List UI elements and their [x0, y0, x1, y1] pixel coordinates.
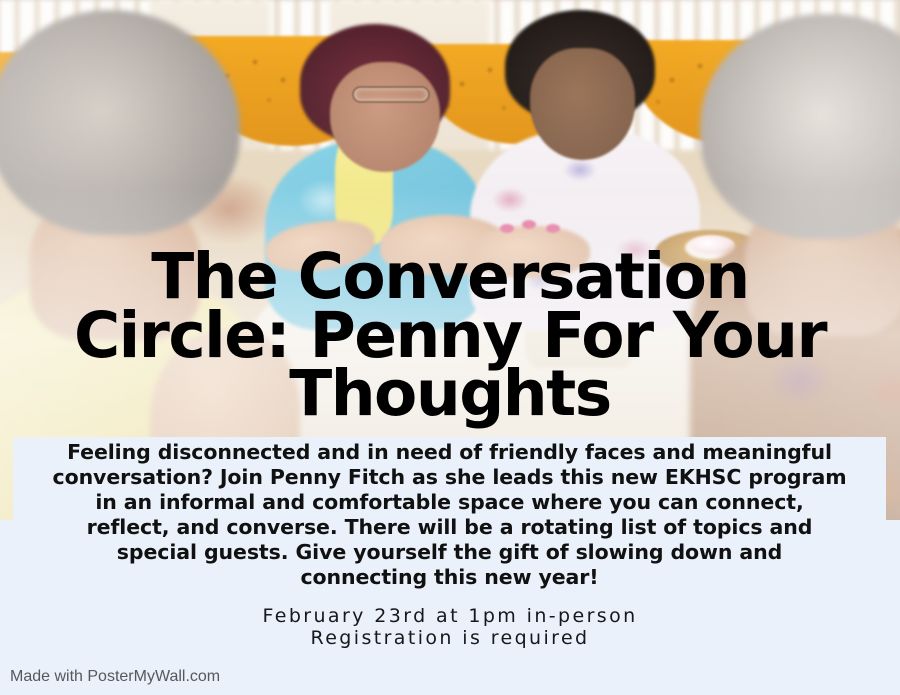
description-line-3: in an informal and comfortable space whe…: [19, 490, 880, 515]
woman-2-eyeglasses: [352, 86, 430, 103]
description-line-4: reflect, and converse. There will be a r…: [19, 515, 880, 540]
description-text: Feeling disconnected and in need of frie…: [13, 440, 886, 590]
registration-note: Registration is required: [0, 628, 900, 649]
woman-3-face: [530, 48, 635, 160]
description-line-2: conversation? Join Penny Fitch as she le…: [19, 465, 880, 490]
fingernail-3: [546, 224, 560, 233]
description-line-6: connecting this new year!: [19, 565, 880, 590]
description-line-5: special guests. Give yourself the gift o…: [19, 540, 880, 565]
fingernail-2: [522, 220, 536, 229]
event-date-time: February 23rd at 1pm in-person: [0, 606, 900, 627]
event-details: February 23rd at 1pm in-person Registrat…: [0, 606, 900, 650]
title-line-1: The Conversation: [60, 248, 840, 307]
fingernail-1: [500, 224, 514, 233]
poster-title: The Conversation Circle: Penny For Your …: [0, 248, 900, 424]
description-line-1: Feeling disconnected and in need of frie…: [19, 440, 880, 465]
woman-2-face: [330, 62, 440, 172]
postermywall-watermark: Made with PosterMyWall.com: [10, 668, 220, 686]
title-line-3: Thoughts: [60, 365, 840, 424]
poster-canvas: The Conversation Circle: Penny For Your …: [0, 0, 900, 695]
